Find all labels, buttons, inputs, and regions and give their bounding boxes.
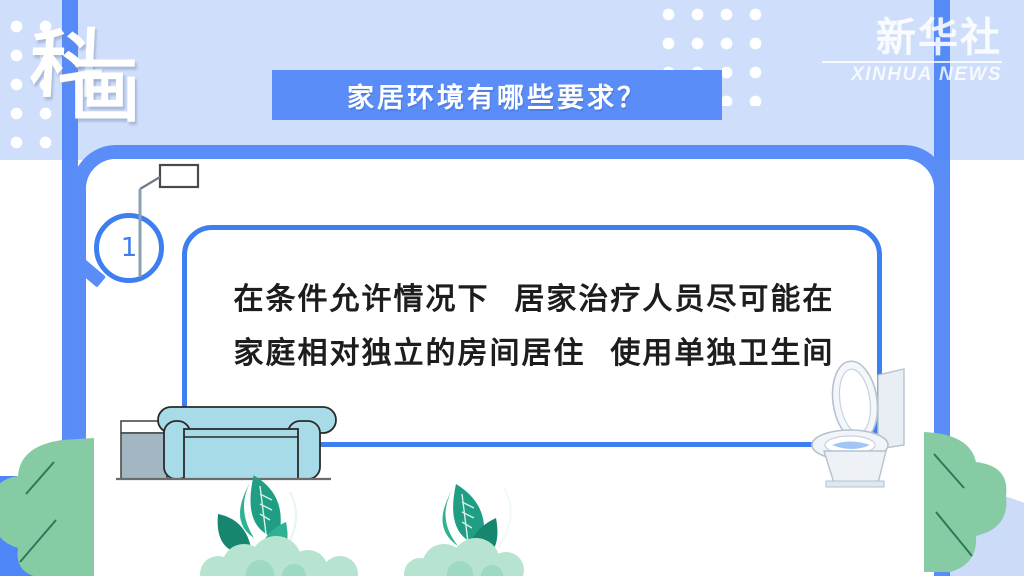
page-title-banner: 家居环境有哪些要求？ [272, 70, 722, 120]
kehua-logo: 科 画 [22, 14, 157, 124]
xinhua-logo-cn: 新华社 [822, 18, 1002, 58]
poster-canvas: 科 画 新华社 XINHUA NEWS 家居环境有哪些要求？ 1 在条件允许情况… [0, 0, 1024, 576]
leaf-decoration-right [920, 432, 1024, 576]
body-text-block: 在条件允许情况下 居家治疗人员尽可能在 家庭相对独立的房间居住 使用单独卫生间 [204, 273, 864, 381]
xinhua-logo-divider [822, 61, 1002, 63]
kehua-logo-char-2: 画 [70, 56, 136, 126]
xinhua-logo-en: XINHUA NEWS [822, 65, 1002, 84]
xinhua-news-logo: 新华社 XINHUA NEWS [822, 18, 1002, 84]
plant-decoration-center [400, 480, 590, 576]
body-text-line-2: 家庭相对独立的房间居住 使用单独卫生间 [204, 327, 864, 381]
floor-lamp-icon [130, 159, 220, 279]
page-title: 家居环境有哪些要求？ [347, 76, 647, 115]
plant-decoration-left [190, 470, 410, 576]
side-table-body [121, 433, 167, 479]
leaf-decoration-left [0, 436, 120, 576]
body-text-line-1: 在条件允许情况下 居家治疗人员尽可能在 [204, 273, 864, 327]
